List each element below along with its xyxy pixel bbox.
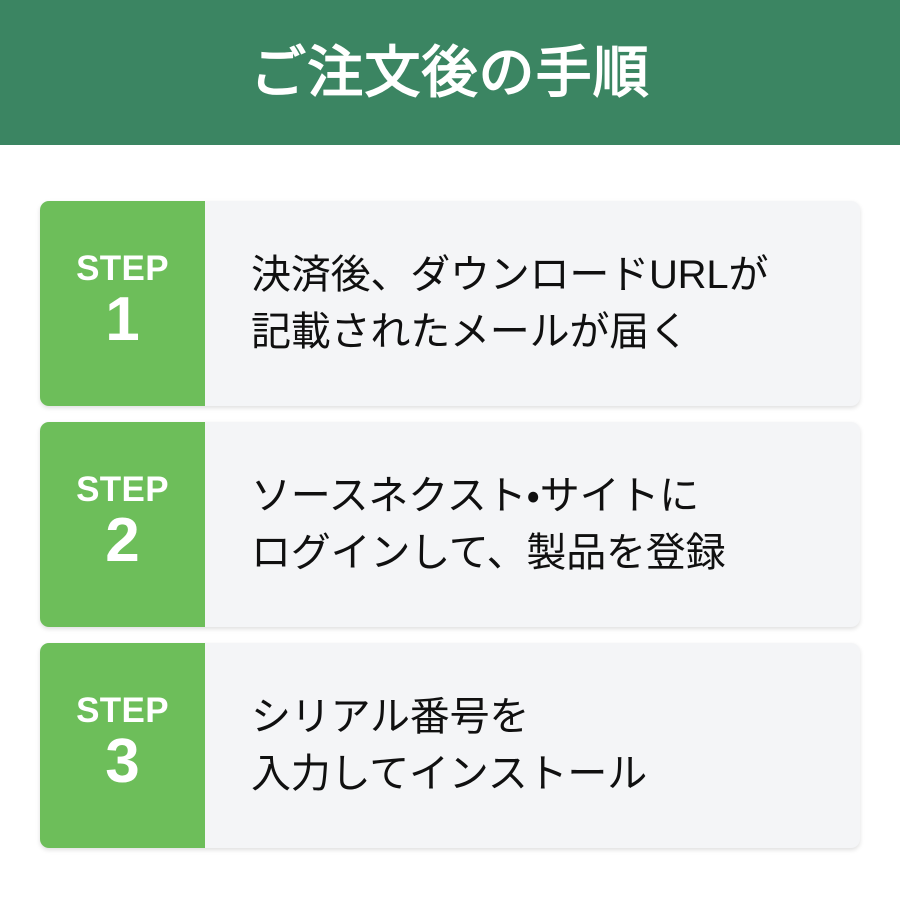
steps-list: STEP 1 決済後、ダウンロードURLが 記載されたメールが届く STEP 2… [40, 201, 860, 848]
step-badge-word: STEP [76, 472, 169, 507]
header-banner: ご注文後の手順 [0, 0, 900, 145]
step-body-1: 決済後、ダウンロードURLが 記載されたメールが届く [205, 201, 860, 406]
step-badge-number: 2 [105, 509, 139, 572]
step-text-line: 記載されたメールが届く [251, 304, 840, 361]
step-text-line: シリアル番号を [251, 689, 840, 746]
step-card-3: STEP 3 シリアル番号を 入力してインストール [40, 643, 860, 848]
step-body-2: ソースネクスト・サイトに ログインして、製品を登録 [205, 422, 860, 627]
step-text-line: 入力してインストール [251, 746, 840, 803]
step-badge-2: STEP 2 [40, 422, 205, 627]
step-body-3: シリアル番号を 入力してインストール [205, 643, 860, 848]
step-badge-number: 3 [105, 730, 139, 793]
step-badge-word: STEP [76, 251, 169, 286]
page-root: ご注文後の手順 STEP 1 決済後、ダウンロードURLが 記載されたメールが届… [0, 0, 900, 900]
step-card-1: STEP 1 決済後、ダウンロードURLが 記載されたメールが届く [40, 201, 860, 406]
step-badge-3: STEP 3 [40, 643, 205, 848]
step-text-line: ログインして、製品を登録 [251, 525, 840, 582]
step-badge-word: STEP [76, 693, 169, 728]
step-text-line: 決済後、ダウンロードURLが [251, 247, 840, 304]
step-card-2: STEP 2 ソースネクスト・サイトに ログインして、製品を登録 [40, 422, 860, 627]
step-text-line: ソースネクスト・サイトに [251, 468, 840, 525]
step-badge-1: STEP 1 [40, 201, 205, 406]
page-title: ご注文後の手順 [250, 45, 650, 101]
step-badge-number: 1 [105, 288, 139, 351]
